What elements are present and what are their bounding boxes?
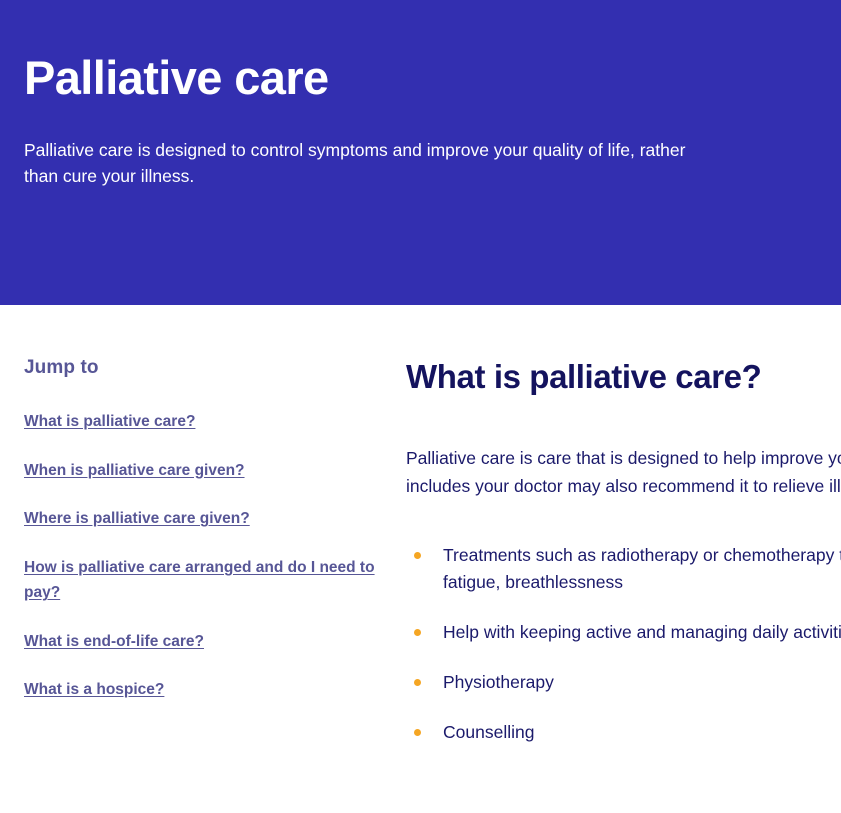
list-item-text: Counselling (443, 722, 534, 742)
jump-link-how-is-palliative-care-arranged[interactable]: How is palliative care arranged and do I… (24, 559, 375, 602)
jump-to-heading: Jump to (24, 357, 376, 379)
list-item: What is palliative care? (24, 409, 376, 435)
list-item: What is a hospice? (24, 677, 376, 703)
list-item: Help with keeping active and managing da… (406, 619, 841, 645)
list-item: Counselling (406, 719, 841, 745)
jump-link-what-is-palliative-care[interactable]: What is palliative care? (24, 413, 195, 430)
jump-link-when-is-palliative-care-given[interactable]: When is palliative care given? (24, 462, 245, 479)
list-item: Physiotherapy (406, 669, 841, 695)
treatment-bullet-list: Treatments such as radiotherapy or chemo… (406, 542, 841, 745)
list-item: When is palliative care given? (24, 458, 376, 484)
jump-to-list: What is palliative care? When is palliat… (24, 409, 376, 703)
page-content: Jump to What is palliative care? When is… (0, 305, 841, 770)
hero-subtitle: Palliative care is designed to control s… (24, 137, 724, 190)
jump-to-sidebar: Jump to What is palliative care? When is… (0, 357, 406, 726)
article-main: What is palliative care? Palliative care… (406, 357, 841, 770)
list-item: Where is palliative care given? (24, 506, 376, 532)
jump-link-what-is-a-hospice[interactable]: What is a hospice? (24, 681, 164, 698)
section-heading: What is palliative care? (406, 357, 841, 397)
list-item-text: Treatments such as radiotherapy or chemo… (443, 545, 841, 591)
jump-link-what-is-end-of-life-care[interactable]: What is end-of-life care? (24, 633, 204, 650)
section-paragraph: Palliative care is care that is designed… (406, 444, 841, 501)
page-title: Palliative care (24, 52, 817, 105)
list-item: What is end-of-life care? (24, 629, 376, 655)
list-item-text: Help with keeping active and managing da… (443, 622, 841, 642)
hero-banner: Palliative care Palliative care is desig… (0, 0, 841, 305)
list-item: How is palliative care arranged and do I… (24, 555, 376, 606)
list-item: Treatments such as radiotherapy or chemo… (406, 542, 841, 595)
list-item-text: Physiotherapy (443, 672, 554, 692)
jump-link-where-is-palliative-care-given[interactable]: Where is palliative care given? (24, 510, 250, 527)
